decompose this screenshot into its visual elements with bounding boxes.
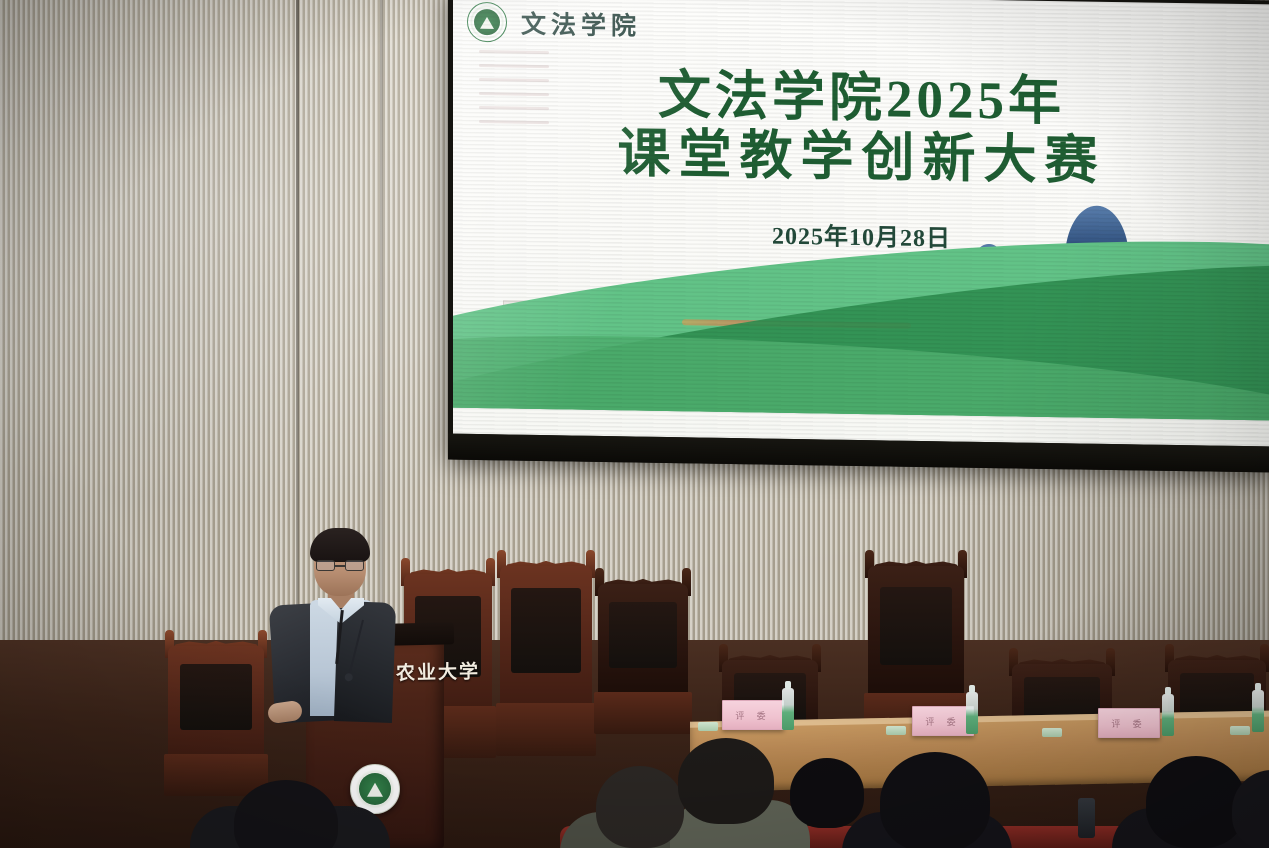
tea-cup <box>698 722 718 731</box>
audience-head <box>596 766 684 848</box>
stage-chair <box>500 566 592 756</box>
speaker-hair <box>310 528 370 562</box>
eyeglasses-icon <box>316 560 364 571</box>
emblem-triangle-icon <box>480 17 494 29</box>
slide-header-label: 文法学院 <box>521 5 641 43</box>
audience-head <box>678 738 774 824</box>
stage-chair <box>168 646 264 796</box>
tea-cup <box>886 726 906 735</box>
water-bottle <box>966 692 978 734</box>
water-bottle <box>1162 694 1174 736</box>
conference-hall-photo: 文法学院 文法学院2025年 课堂教学创新大赛 2025年10月28日 <box>0 0 1269 848</box>
tea-cup <box>1230 726 1250 735</box>
seal-triangle-icon <box>367 783 383 797</box>
audience-head <box>880 752 990 848</box>
tea-cup <box>1042 728 1062 737</box>
placard-label: 评 委 <box>735 709 770 722</box>
water-bottle <box>1252 690 1264 732</box>
led-screen: 文法学院 文法学院2025年 课堂教学创新大赛 2025年10月28日 <box>453 0 1269 446</box>
led-screen-frame: 文法学院 文法学院2025年 课堂教学创新大赛 2025年10月28日 <box>448 0 1269 472</box>
slide-header: 文法学院 <box>467 2 641 45</box>
wenfa-college-emblem-icon <box>467 2 507 43</box>
audience-head <box>790 758 864 828</box>
name-placard: 评 委 <box>722 700 784 730</box>
slide-title-line-2: 课堂教学创新大赛 <box>453 123 1269 195</box>
stage-chair <box>598 584 688 734</box>
name-placard: 评 委 <box>912 706 974 736</box>
placard-label: 评 委 <box>925 715 960 728</box>
speaker-figure <box>266 524 396 724</box>
water-bottle <box>782 688 794 730</box>
slide-title-block: 文法学院2025年 课堂教学创新大赛 2025年10月28日 <box>453 64 1269 259</box>
audience-head <box>1146 756 1246 848</box>
audience-tumbler <box>1078 798 1095 838</box>
name-placard: 评 委 <box>1098 708 1160 738</box>
placard-label: 评 委 <box>1111 717 1146 730</box>
